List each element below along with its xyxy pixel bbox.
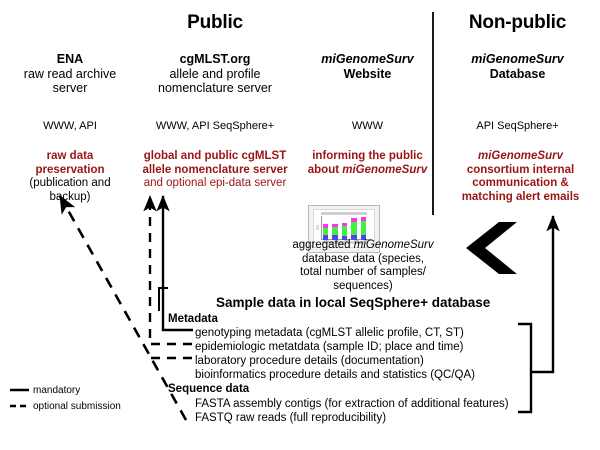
arrow-genotyping-to-cgmlst (163, 196, 193, 330)
chart-bar-1-seg-mid (323, 228, 329, 236)
diagram-canvas: Public Non-public ENA raw read archive s… (0, 0, 600, 450)
group-heading-metadata: Metadata (168, 313, 218, 325)
chart-bar-5 (361, 217, 367, 239)
aggregated-caption-line-1b: miGenomeSurv (354, 239, 434, 251)
aggregated-caption-line-4: sequences) (263, 280, 463, 294)
chart-thumbnail-plot-area (321, 216, 371, 240)
column-ena: ENA raw read archive server (5, 52, 135, 96)
column-database-title: Database (440, 67, 595, 82)
header-nonpublic: Non-public (440, 12, 595, 34)
column-website-title-italic: miGenomeSurv (300, 52, 435, 67)
column-cgmlst-access: WWW, API SeqSphere+ (125, 120, 305, 132)
aggregated-caption-line-2: database data (species, (263, 253, 463, 267)
chart-thumbnail-title-bar (321, 212, 367, 215)
header-public: Public (140, 12, 290, 34)
column-cgmlst-purpose-3: and optional epi-data server (122, 177, 308, 191)
column-website-title: Website (300, 67, 435, 82)
column-cgmlst-purpose: global and public cgMLST allele nomencla… (122, 150, 308, 191)
column-website-purpose-2a: about (308, 164, 343, 176)
column-ena-purpose-1: raw data (8, 150, 132, 164)
column-database-purpose: miGenomeSurv consortium internal communi… (443, 150, 598, 204)
legend-label-mandatory: mandatory (33, 385, 80, 396)
row-laboratory-procedure: laboratory procedure details (documentat… (195, 355, 424, 367)
aggregated-caption-line-1: aggregated miGenomeSurv (263, 239, 463, 253)
column-database-access: API SeqSphere+ (440, 120, 595, 132)
column-database: miGenomeSurv Database (440, 52, 595, 81)
column-website-purpose-2: about miGenomeSurv (295, 164, 440, 178)
chart-bar-1 (323, 224, 329, 239)
column-ena-title: ENA (5, 52, 135, 67)
row-fastq-raw-reads: FASTQ raw reads (full reproducibility) (195, 412, 386, 424)
column-ena-purpose-4: backup) (8, 191, 132, 205)
column-ena-purpose-2: preservation (8, 164, 132, 178)
column-database-title-italic: miGenomeSurv (440, 52, 595, 67)
aggregated-caption-line-1a: aggregated (292, 239, 353, 251)
column-cgmlst-subtitle-1: allele and profile (125, 67, 305, 82)
legend-label-optional: optional submission (33, 401, 121, 412)
column-website-purpose-1: informing the public (295, 150, 440, 164)
chart-bar-4 (351, 218, 357, 240)
chart-thumbnail-legend-box (316, 225, 319, 230)
column-database-purpose-3: communication & (443, 177, 598, 191)
sample-data-bracket-right (518, 324, 531, 412)
chart-bar-3-seg-mid (342, 226, 348, 235)
column-cgmlst-purpose-2: allele nomenclature server (122, 164, 308, 178)
column-database-purpose-2: consortium internal (443, 164, 598, 178)
column-cgmlst-purpose-1: global and public cgMLST (122, 150, 308, 164)
column-cgmlst-title: cgMLST.org (125, 52, 305, 67)
chart-bar-3 (342, 223, 348, 240)
row-epidemiologic-metadata: epidemiologic metatdata (sample ID; plac… (195, 341, 463, 353)
public-nonpublic-divider (432, 12, 434, 215)
chart-bar-5-seg-mid (361, 221, 367, 235)
row-fasta-contigs: FASTA assembly contigs (for extraction o… (195, 398, 509, 410)
group-heading-sequence-data: Sequence data (168, 383, 249, 395)
column-website: miGenomeSurv Website (300, 52, 435, 81)
aggregated-caption: aggregated miGenomeSurv database data (s… (263, 239, 463, 293)
row-bioinformatics-procedure: bioinformatics procedure details and sta… (195, 369, 475, 381)
chart-bar-2-seg-mid (332, 227, 338, 236)
column-ena-subtitle-2: server (5, 81, 135, 96)
sample-data-heading: Sample data in local SeqSphere+ database (216, 295, 490, 310)
column-website-purpose-2b: miGenomeSurv (342, 164, 427, 176)
column-cgmlst-subtitle-2: nomenclature server (125, 81, 305, 96)
chart-bar-4-seg-mid (351, 222, 357, 235)
column-ena-access: WWW, API (5, 120, 135, 132)
arrow-sample-data-to-database (531, 216, 553, 372)
column-website-access: WWW (300, 120, 435, 132)
column-database-purpose-1: miGenomeSurv (443, 150, 598, 164)
aggregated-caption-line-3: total number of samples/ (263, 266, 463, 280)
column-database-purpose-4: matching alert emails (443, 191, 598, 205)
column-ena-purpose: raw data preservation (publication and b… (8, 150, 132, 204)
chart-bar-2 (332, 224, 338, 240)
sample-data-bracket-left (159, 288, 168, 311)
column-website-purpose: informing the public about miGenomeSurv (295, 150, 440, 177)
row-genotyping-metadata: genotyping metadata (cgMLST allelic prof… (195, 327, 464, 339)
column-ena-purpose-3: (publication and (8, 177, 132, 191)
column-ena-subtitle-1: raw read archive (5, 67, 135, 82)
column-cgmlst: cgMLST.org allele and profile nomenclatu… (125, 52, 305, 96)
database-to-website-chevron-icon (466, 222, 517, 274)
